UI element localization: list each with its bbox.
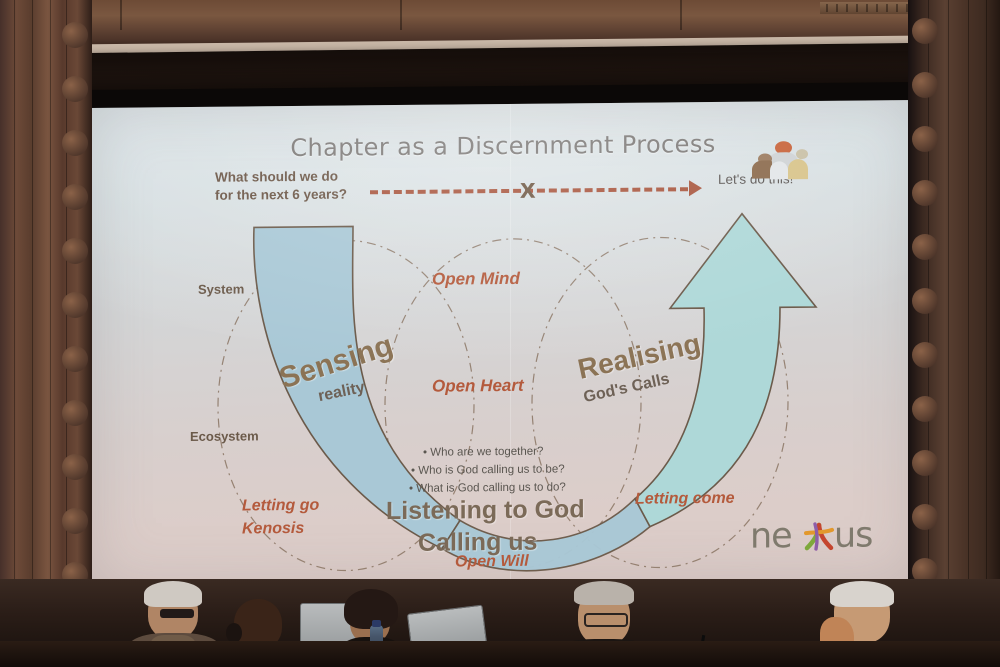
label-letting-go-line1: Letting go: [242, 494, 319, 518]
bottle-cap: [372, 620, 381, 627]
discernment-questions-list: • Who are we together? • Who is God call…: [423, 443, 566, 498]
nexus-logo-text-before: ne: [750, 516, 792, 556]
label-letting-come: Letting come: [635, 490, 735, 509]
x-cross-icon: [802, 519, 836, 553]
curtain-right: [908, 0, 1000, 667]
label-open-heart: Open Heart: [432, 376, 524, 397]
conference-table: [0, 641, 1000, 667]
curtain-left: [0, 0, 92, 667]
label-listening-to-god: Listening to God: [386, 495, 585, 526]
label-open-mind: Open Mind: [432, 269, 520, 290]
label-kenosis: Kenosis: [242, 517, 319, 541]
list-item: • Who is God calling us to be?: [411, 461, 566, 480]
label-calling-us: Calling us: [418, 528, 537, 558]
label-system: System: [198, 281, 244, 296]
foreground-audience: [0, 579, 1000, 667]
label-letting-go: Letting go Kenosis: [242, 494, 319, 541]
label-ecosystem: Ecosystem: [190, 428, 259, 444]
nexus-logo-text-after: us: [834, 515, 872, 555]
presentation-slide: Chapter as a Discernment Process What sh…: [90, 100, 916, 590]
list-item: • Who are we together?: [423, 443, 566, 462]
nexus-logo: ne us: [750, 515, 878, 564]
room-photo: Chapter as a Discernment Process What sh…: [0, 0, 1000, 667]
